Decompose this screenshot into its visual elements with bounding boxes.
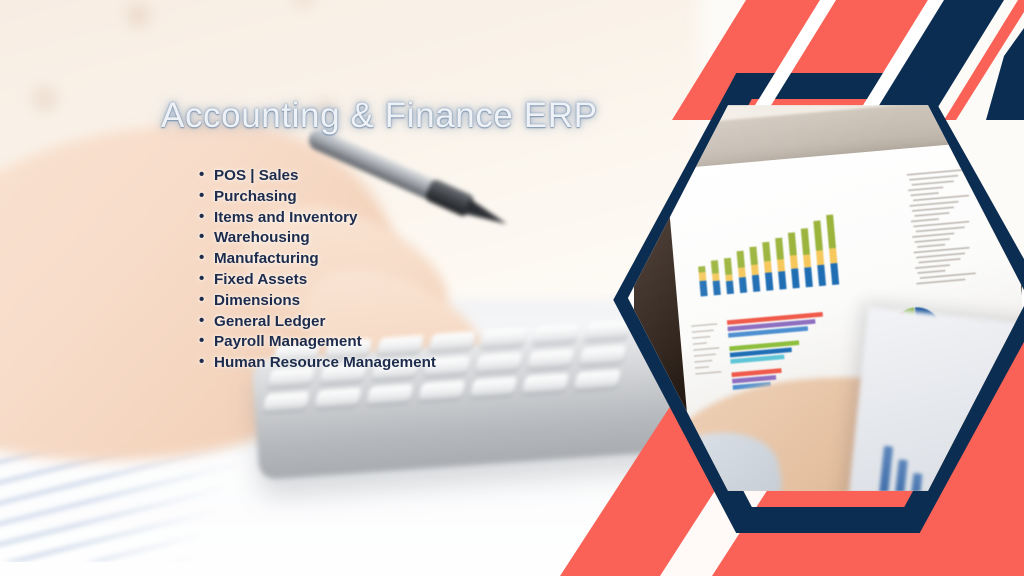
calculator-key (475, 352, 523, 372)
calculator-key (579, 345, 627, 365)
calculator-key (522, 373, 570, 393)
calculator-key (314, 387, 362, 407)
feature-item: Dimensions (214, 291, 436, 312)
feature-item: Human Resource Management (214, 353, 436, 374)
calculator-key (532, 324, 580, 344)
feature-item: Manufacturing (214, 249, 436, 270)
feature-item: General Ledger (214, 312, 436, 333)
feature-item: POS | Sales (214, 166, 436, 187)
calculator-key (480, 328, 528, 348)
calculator-key (470, 377, 518, 397)
tablet-dashboard-photo (628, 98, 1024, 498)
feature-item: Items and Inventory (214, 208, 436, 229)
feature-item: Warehousing (214, 228, 436, 249)
calculator-key (574, 369, 622, 389)
page-title: Accounting & Finance ERP (161, 96, 598, 136)
photo-screen-glare (628, 98, 1024, 498)
slide-canvas: Accounting & Finance ERP POS | SalesPurc… (0, 0, 1024, 576)
calculator-key (366, 384, 414, 404)
calculator-key (527, 349, 575, 369)
calculator-key (262, 391, 310, 411)
feature-item: Fixed Assets (214, 270, 436, 291)
calculator-key (584, 320, 632, 340)
feature-item: Purchasing (214, 187, 436, 208)
calculator-key (418, 380, 466, 400)
feature-item: Payroll Management (214, 332, 436, 353)
hexagon-image-frame (628, 98, 1024, 498)
feature-list: POS | SalesPurchasingItems and Inventory… (198, 166, 436, 374)
